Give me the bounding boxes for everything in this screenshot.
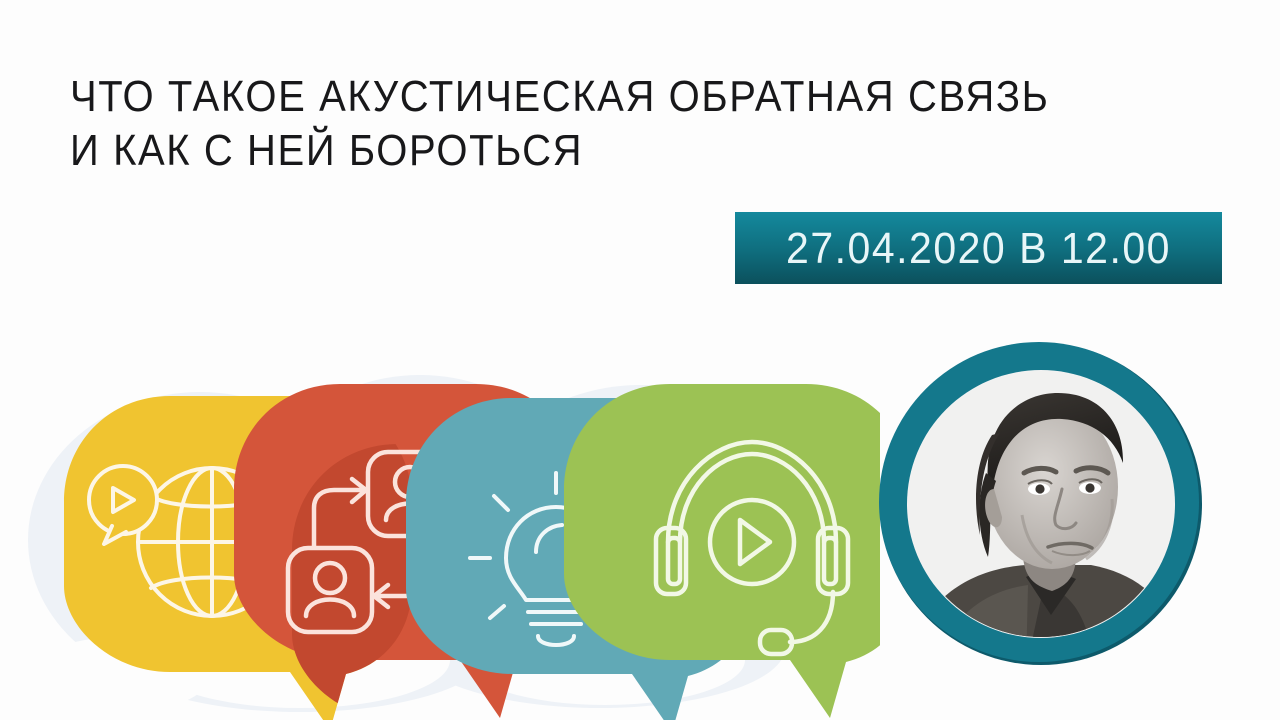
- presenter-portrait: [876, 339, 1206, 669]
- title-line-1: ЧТО ТАКОЕ АКУСТИЧЕСКАЯ ОБРАТНАЯ СВЯЗЬ: [70, 68, 1200, 126]
- title-line-2: И КАК С НЕЙ БОРОТЬСЯ: [70, 122, 1200, 180]
- page-title: ЧТО ТАКОЕ АКУСТИЧЕСКАЯ ОБРАТНАЯ СВЯЗЬ И …: [70, 68, 1200, 176]
- webinar-title-slide: ЧТО ТАКОЕ АКУСТИЧЕСКАЯ ОБРАТНАЯ СВЯЗЬ И …: [0, 0, 1280, 720]
- date-banner: 27.04.2020 В 12.00: [735, 212, 1222, 284]
- speech-bubble-artwork: [0, 330, 880, 720]
- portrait-photo: [876, 339, 1206, 669]
- date-banner-text: 27.04.2020 В 12.00: [786, 223, 1171, 273]
